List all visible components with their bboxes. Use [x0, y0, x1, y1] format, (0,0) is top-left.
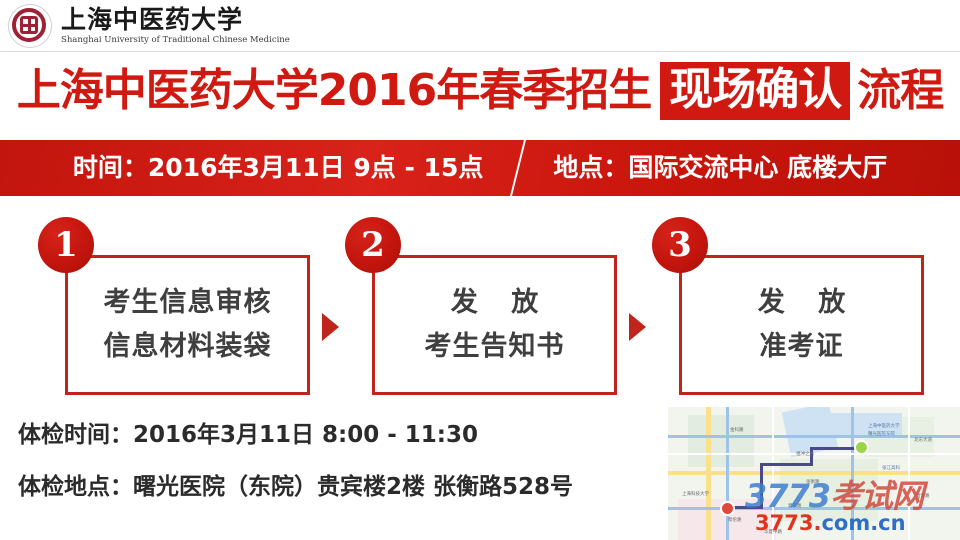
map-label: 碧波路	[788, 503, 802, 509]
map-label: 张江高科	[882, 465, 900, 471]
process-flow: 1 考生信息审核 信息材料装袋 2 发 放 考生告知书 3 发 放 准考证	[0, 205, 960, 400]
map-highway-horizontal	[668, 471, 960, 475]
map-start-pin	[854, 440, 869, 455]
map-street-a	[668, 453, 960, 455]
map-label: 上海科技大学	[682, 491, 709, 497]
map-label: 祖冲之路	[796, 451, 814, 457]
map-label: 上海中医药大学	[868, 423, 900, 429]
map-label: 蔡伦路	[728, 517, 742, 523]
location-map-thumbnail[interactable]: 上海中医药大学曙光医院东院张江高科金科路祖冲之路张衡路蔡伦路上海科技大学哈雷路华…	[668, 407, 960, 540]
step-1-line-2: 信息材料装袋	[104, 325, 272, 369]
poster-page: 上海中医药大学 Shanghai University of Tradition…	[0, 0, 960, 540]
arrow-right-triangle-icon-2	[629, 313, 646, 341]
map-label: 哈雷路	[916, 493, 930, 499]
banner-place: 地点：国际交流中心 底楼大厅	[553, 153, 887, 183]
map-label: 华夏中路	[764, 529, 782, 535]
step-box-1: 考生信息审核 信息材料装袋	[65, 255, 310, 395]
page-title-prefix: 上海中医药大学2016年春季招生	[17, 65, 651, 117]
map-green-area-b	[780, 459, 878, 521]
logo-text-block: 上海中医药大学 Shanghai University of Tradition…	[61, 6, 290, 46]
info-banner: 时间：2016年3月11日 9点 - 15点 地点：国际交流中心 底楼大厅	[0, 140, 960, 196]
map-street-c	[908, 407, 910, 540]
step-1-line-1: 考生信息审核	[104, 281, 272, 325]
map-route-segment-2	[760, 463, 763, 509]
arrow-right-triangle-icon-1	[322, 313, 339, 341]
map-street-b	[772, 407, 774, 540]
step-badge-3: 3	[652, 217, 708, 273]
step-3-line-2: 准考证	[760, 325, 844, 369]
map-green-area-a	[688, 415, 754, 467]
university-seal-icon	[8, 4, 52, 48]
map-road-blue-c	[851, 407, 854, 540]
map-label: 龙东大道	[914, 437, 932, 443]
step-badge-2: 2	[345, 217, 401, 273]
logo-english-name: Shanghai University of Traditional Chine…	[61, 35, 290, 46]
step-badge-1: 1	[38, 217, 94, 273]
step-box-2: 发 放 考生告知书	[372, 255, 617, 395]
seal-bar-horizontal	[22, 24, 37, 27]
header-logo-bar: 上海中医药大学 Shanghai University of Tradition…	[0, 0, 960, 52]
map-label: 张衡路	[806, 479, 820, 485]
map-route-segment-1	[760, 463, 812, 466]
step-box-3: 发 放 准考证	[679, 255, 924, 395]
page-title-suffix: 流程	[857, 65, 943, 117]
footer-exam-time: 体检时间：2016年3月11日 8:00 - 11:30	[18, 420, 478, 450]
step-2-line-1: 发 放	[439, 281, 550, 325]
map-road-blue-d	[668, 507, 960, 510]
map-destination-pin	[720, 501, 735, 516]
step-3-line-1: 发 放	[746, 281, 857, 325]
footer-exam-place: 体检地点：曙光医院（东院）贵宾楼2楼 张衡路528号	[18, 472, 573, 502]
page-title-highlight: 现场确认	[660, 62, 850, 120]
map-label: 曙光医院东院	[868, 431, 895, 437]
step-2-line-2: 考生告知书	[425, 325, 565, 369]
page-title: 上海中医药大学2016年春季招生现场确认流程	[0, 60, 960, 122]
map-label: 金科路	[730, 427, 744, 433]
banner-time: 时间：2016年3月11日 9点 - 15点	[73, 153, 483, 183]
banner-separator	[510, 140, 526, 196]
logo-chinese-name: 上海中医药大学	[61, 6, 290, 34]
university-logo: 上海中医药大学 Shanghai University of Tradition…	[8, 4, 290, 48]
